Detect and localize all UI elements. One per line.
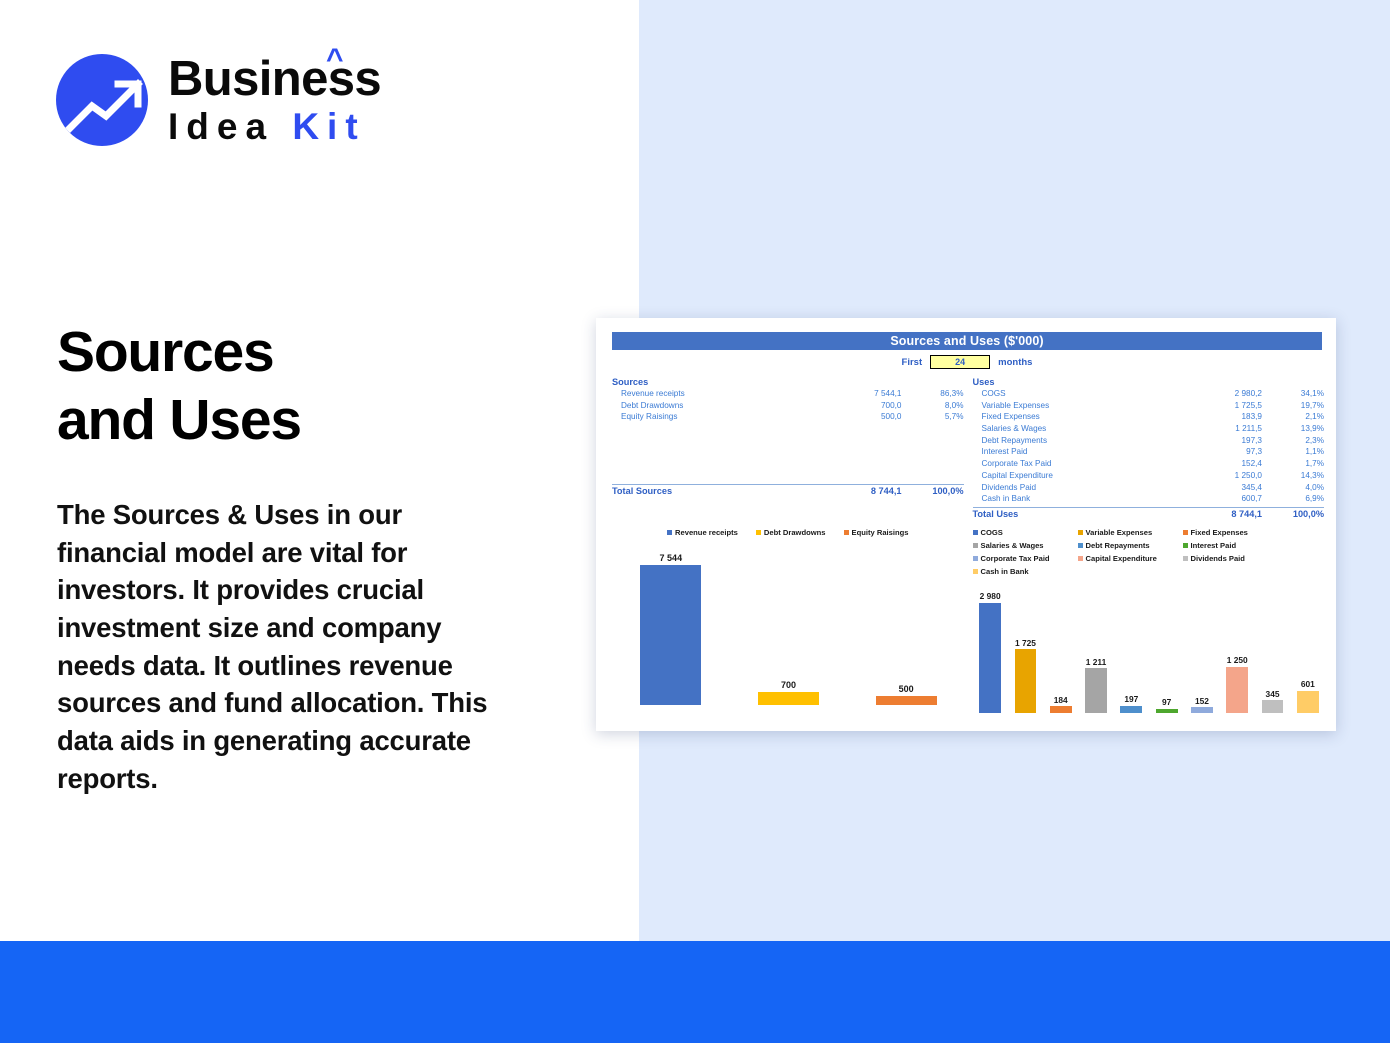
chart-bar-fill — [1156, 709, 1178, 713]
row-percent: 34,1% — [1262, 389, 1324, 398]
row-percent: 2,3% — [1262, 436, 1324, 445]
chart-bar: 1 211 — [1085, 668, 1107, 713]
chart-bar: 1 250 — [1226, 667, 1248, 713]
row-label: COGS — [973, 389, 1183, 398]
brand-logo: Business ^ Idea Kit — [56, 54, 381, 146]
legend-label: Debt Repayments — [1086, 539, 1150, 552]
legend-item: Debt Drawdowns — [756, 526, 826, 539]
uses-rows: COGS2 980,234,1%Variable Expenses1 725,5… — [973, 389, 1325, 506]
legend-swatch — [973, 530, 978, 535]
uses-table: Uses COGS2 980,234,1%Variable Expenses1 … — [973, 377, 1325, 519]
brand-name-idea: Idea — [168, 106, 274, 147]
sources-total-percent: 100,0% — [902, 486, 964, 496]
uses-chart-legend: COGSVariable ExpensesFixed ExpensesSalar… — [973, 526, 1325, 578]
row-label: Dividends Paid — [973, 483, 1183, 492]
period-prefix-label: First — [902, 357, 923, 368]
chart-bar-fill — [1191, 707, 1213, 713]
chart-bar-label: 2 980 — [980, 591, 1001, 601]
charts-row: Revenue receiptsDebt DrawdownsEquity Rai… — [612, 526, 1324, 713]
table-row: Debt Repayments197,32,3% — [973, 436, 1325, 448]
row-amount: 7 544,1 — [822, 389, 902, 398]
row-label: Equity Raisings — [612, 412, 822, 421]
chart-bar: 152 — [1191, 707, 1213, 713]
chart-bar-label: 1 211 — [1086, 657, 1107, 667]
chart-bar-label: 345 — [1266, 689, 1280, 699]
chart-bar: 2 980 — [979, 603, 1001, 713]
legend-swatch — [756, 530, 761, 535]
chart-bar-fill — [1015, 649, 1037, 713]
row-label: Variable Expenses — [973, 401, 1183, 410]
row-percent: 8,0% — [902, 401, 964, 410]
period-suffix-label: months — [998, 357, 1032, 368]
chart-bar-fill — [1226, 667, 1248, 713]
row-percent: 14,3% — [1262, 471, 1324, 480]
row-amount: 1 725,5 — [1182, 401, 1262, 410]
legend-swatch — [1183, 556, 1188, 561]
table-row: Corporate Tax Paid152,41,7% — [973, 459, 1325, 471]
row-amount: 2 980,2 — [1182, 389, 1262, 398]
chart-bar-label: 7 544 — [660, 553, 683, 563]
table-row: Revenue receipts7 544,186,3% — [612, 389, 964, 401]
legend-swatch — [1183, 530, 1188, 535]
row-percent: 2,1% — [1262, 412, 1324, 421]
brand-name-bottom: Idea Kit — [168, 108, 381, 145]
sources-chart-plot: 7 544700500 — [612, 543, 964, 705]
chart-bar-label: 500 — [899, 684, 914, 694]
legend-swatch — [667, 530, 672, 535]
legend-swatch — [844, 530, 849, 535]
chart-bar: 345 — [1262, 700, 1284, 713]
chart-bar: 1 725 — [1015, 649, 1037, 713]
chart-bar-fill — [876, 696, 937, 705]
legend-swatch — [973, 556, 978, 561]
row-label: Fixed Expenses — [973, 412, 1183, 421]
legend-item: Dividends Paid — [1183, 552, 1288, 565]
sources-total-amount: 8 744,1 — [822, 486, 902, 496]
row-amount: 183,9 — [1182, 412, 1262, 421]
row-amount: 1 250,0 — [1182, 471, 1262, 480]
chart-bar-fill — [1120, 706, 1142, 713]
sources-and-uses-tables: Sources Revenue receipts7 544,186,3%Debt… — [612, 377, 1324, 519]
brand-name-top: Business ^ — [168, 55, 381, 104]
legend-item: Corporate Tax Paid — [973, 552, 1078, 565]
row-amount: 197,3 — [1182, 436, 1262, 445]
row-percent: 1,1% — [1262, 447, 1324, 456]
legend-swatch — [1078, 556, 1083, 561]
row-label: Cash in Bank — [973, 494, 1183, 503]
spreadsheet-screenshot-card: Sources and Uses ($'000) First 24 months… — [596, 318, 1336, 731]
legend-label: Revenue receipts — [675, 526, 738, 539]
row-label: Debt Repayments — [973, 436, 1183, 445]
row-percent: 86,3% — [902, 389, 964, 398]
table-row: Cash in Bank600,76,9% — [973, 494, 1325, 506]
table-row: Interest Paid97,31,1% — [973, 447, 1325, 459]
row-label: Corporate Tax Paid — [973, 459, 1183, 468]
row-label: Interest Paid — [973, 447, 1183, 456]
page-title: Sources and Uses — [57, 318, 577, 455]
legend-item: Interest Paid — [1183, 539, 1288, 552]
chart-bar-fill — [1262, 700, 1284, 713]
chart-bar-fill — [640, 565, 701, 705]
legend-swatch — [973, 569, 978, 574]
uses-total-label: Total Uses — [973, 509, 1183, 519]
brand-caret-accent: ^ — [326, 45, 343, 75]
chart-bar-label: 700 — [781, 680, 796, 690]
chart-bar: 7 544 — [640, 565, 701, 705]
row-label: Salaries & Wages — [973, 424, 1183, 433]
table-row: COGS2 980,234,1% — [973, 389, 1325, 401]
legend-label: Salaries & Wages — [981, 539, 1044, 552]
table-row: Capital Expenditure1 250,014,3% — [973, 471, 1325, 483]
row-amount: 152,4 — [1182, 459, 1262, 468]
legend-item: Salaries & Wages — [973, 539, 1078, 552]
legend-label: Cash in Bank — [981, 565, 1029, 578]
growth-arrow-icon — [56, 54, 148, 146]
uses-chart-plot: 2 9801 7251841 211197971521 250345601 — [973, 581, 1325, 713]
row-percent: 13,9% — [1262, 424, 1324, 433]
legend-label: Fixed Expenses — [1191, 526, 1248, 539]
chart-bar-fill — [1085, 668, 1107, 713]
sources-chart-legend: Revenue receiptsDebt DrawdownsEquity Rai… — [612, 526, 964, 539]
table-row: Variable Expenses1 725,519,7% — [973, 401, 1325, 413]
legend-label: COGS — [981, 526, 1003, 539]
table-row: Debt Drawdowns700,08,0% — [612, 401, 964, 413]
row-percent: 1,7% — [1262, 459, 1324, 468]
legend-item: Cash in Bank — [973, 565, 1078, 578]
row-label: Debt Drawdowns — [612, 401, 822, 410]
legend-label: Dividends Paid — [1191, 552, 1245, 565]
sources-spacer — [612, 424, 964, 483]
sources-heading: Sources — [612, 377, 964, 387]
legend-swatch — [1078, 530, 1083, 535]
legend-item: Equity Raisings — [844, 526, 909, 539]
chart-bar-label: 197 — [1124, 694, 1138, 704]
chart-bar: 500 — [876, 696, 937, 705]
slide-canvas: Business ^ Idea Kit Sources and Uses The… — [0, 0, 1390, 1043]
uses-total-amount: 8 744,1 — [1182, 509, 1262, 519]
legend-label: Corporate Tax Paid — [981, 552, 1050, 565]
table-row: Salaries & Wages1 211,513,9% — [973, 424, 1325, 436]
row-percent: 19,7% — [1262, 401, 1324, 410]
row-amount: 1 211,5 — [1182, 424, 1262, 433]
sources-rows: Revenue receipts7 544,186,3%Debt Drawdow… — [612, 389, 964, 424]
table-row: Equity Raisings500,05,7% — [612, 412, 964, 424]
sheet-title: Sources and Uses ($'000) — [612, 332, 1322, 350]
row-amount: 700,0 — [822, 401, 902, 410]
row-percent: 4,0% — [1262, 483, 1324, 492]
sources-table: Sources Revenue receipts7 544,186,3%Debt… — [612, 377, 964, 519]
legend-item: COGS — [973, 526, 1078, 539]
chart-bar: 700 — [758, 692, 819, 705]
chart-bar-label: 97 — [1162, 697, 1171, 707]
chart-bar: 197 — [1120, 706, 1142, 713]
brand-name-top-text: Business — [168, 52, 381, 106]
table-row: Fixed Expenses183,92,1% — [973, 412, 1325, 424]
uses-heading: Uses — [973, 377, 1325, 387]
legend-swatch — [973, 543, 978, 548]
legend-swatch — [1183, 543, 1188, 548]
brand-name-kit: Kit — [292, 106, 365, 147]
legend-label: Equity Raisings — [852, 526, 909, 539]
legend-label: Interest Paid — [1191, 539, 1237, 552]
uses-total-row: Total Uses 8 744,1 100,0% — [973, 507, 1325, 519]
chart-bar: 184 — [1050, 706, 1072, 713]
background-bar-bottom — [0, 941, 1390, 1043]
table-row: Dividends Paid345,44,0% — [973, 483, 1325, 495]
chart-bar-label: 1 250 — [1227, 655, 1248, 665]
sources-total-label: Total Sources — [612, 486, 822, 496]
chart-bar-fill — [979, 603, 1001, 713]
chart-bar-fill — [1297, 691, 1319, 713]
legend-label: Capital Expenditure — [1086, 552, 1157, 565]
legend-item: Variable Expenses — [1078, 526, 1183, 539]
hero-description: The Sources & Uses in our financial mode… — [57, 496, 507, 797]
row-amount: 500,0 — [822, 412, 902, 421]
sources-total-row: Total Sources 8 744,1 100,0% — [612, 484, 964, 496]
row-amount: 97,3 — [1182, 447, 1262, 456]
chart-bar: 97 — [1156, 709, 1178, 713]
legend-item: Debt Repayments — [1078, 539, 1183, 552]
row-amount: 600,7 — [1182, 494, 1262, 503]
chart-bar: 601 — [1297, 691, 1319, 713]
legend-swatch — [1078, 543, 1083, 548]
uses-total-percent: 100,0% — [1262, 509, 1324, 519]
chart-bar-fill — [758, 692, 819, 705]
row-label: Capital Expenditure — [973, 471, 1183, 480]
months-input[interactable]: 24 — [930, 355, 990, 369]
row-percent: 6,9% — [1262, 494, 1324, 503]
chart-bar-fill — [1050, 706, 1072, 713]
period-selector-row: First 24 months — [612, 355, 1322, 369]
row-percent: 5,7% — [902, 412, 964, 421]
legend-label: Debt Drawdowns — [764, 526, 826, 539]
chart-bar-label: 152 — [1195, 696, 1209, 706]
legend-item: Capital Expenditure — [1078, 552, 1183, 565]
chart-bar-label: 184 — [1054, 695, 1068, 705]
legend-label: Variable Expenses — [1086, 526, 1153, 539]
row-label: Revenue receipts — [612, 389, 822, 398]
uses-chart: COGSVariable ExpensesFixed ExpensesSalar… — [973, 526, 1325, 713]
chart-bar-label: 601 — [1301, 679, 1315, 689]
row-amount: 345,4 — [1182, 483, 1262, 492]
legend-item: Fixed Expenses — [1183, 526, 1288, 539]
sources-chart: Revenue receiptsDebt DrawdownsEquity Rai… — [612, 526, 964, 713]
legend-item: Revenue receipts — [667, 526, 738, 539]
chart-bar-label: 1 725 — [1015, 638, 1036, 648]
